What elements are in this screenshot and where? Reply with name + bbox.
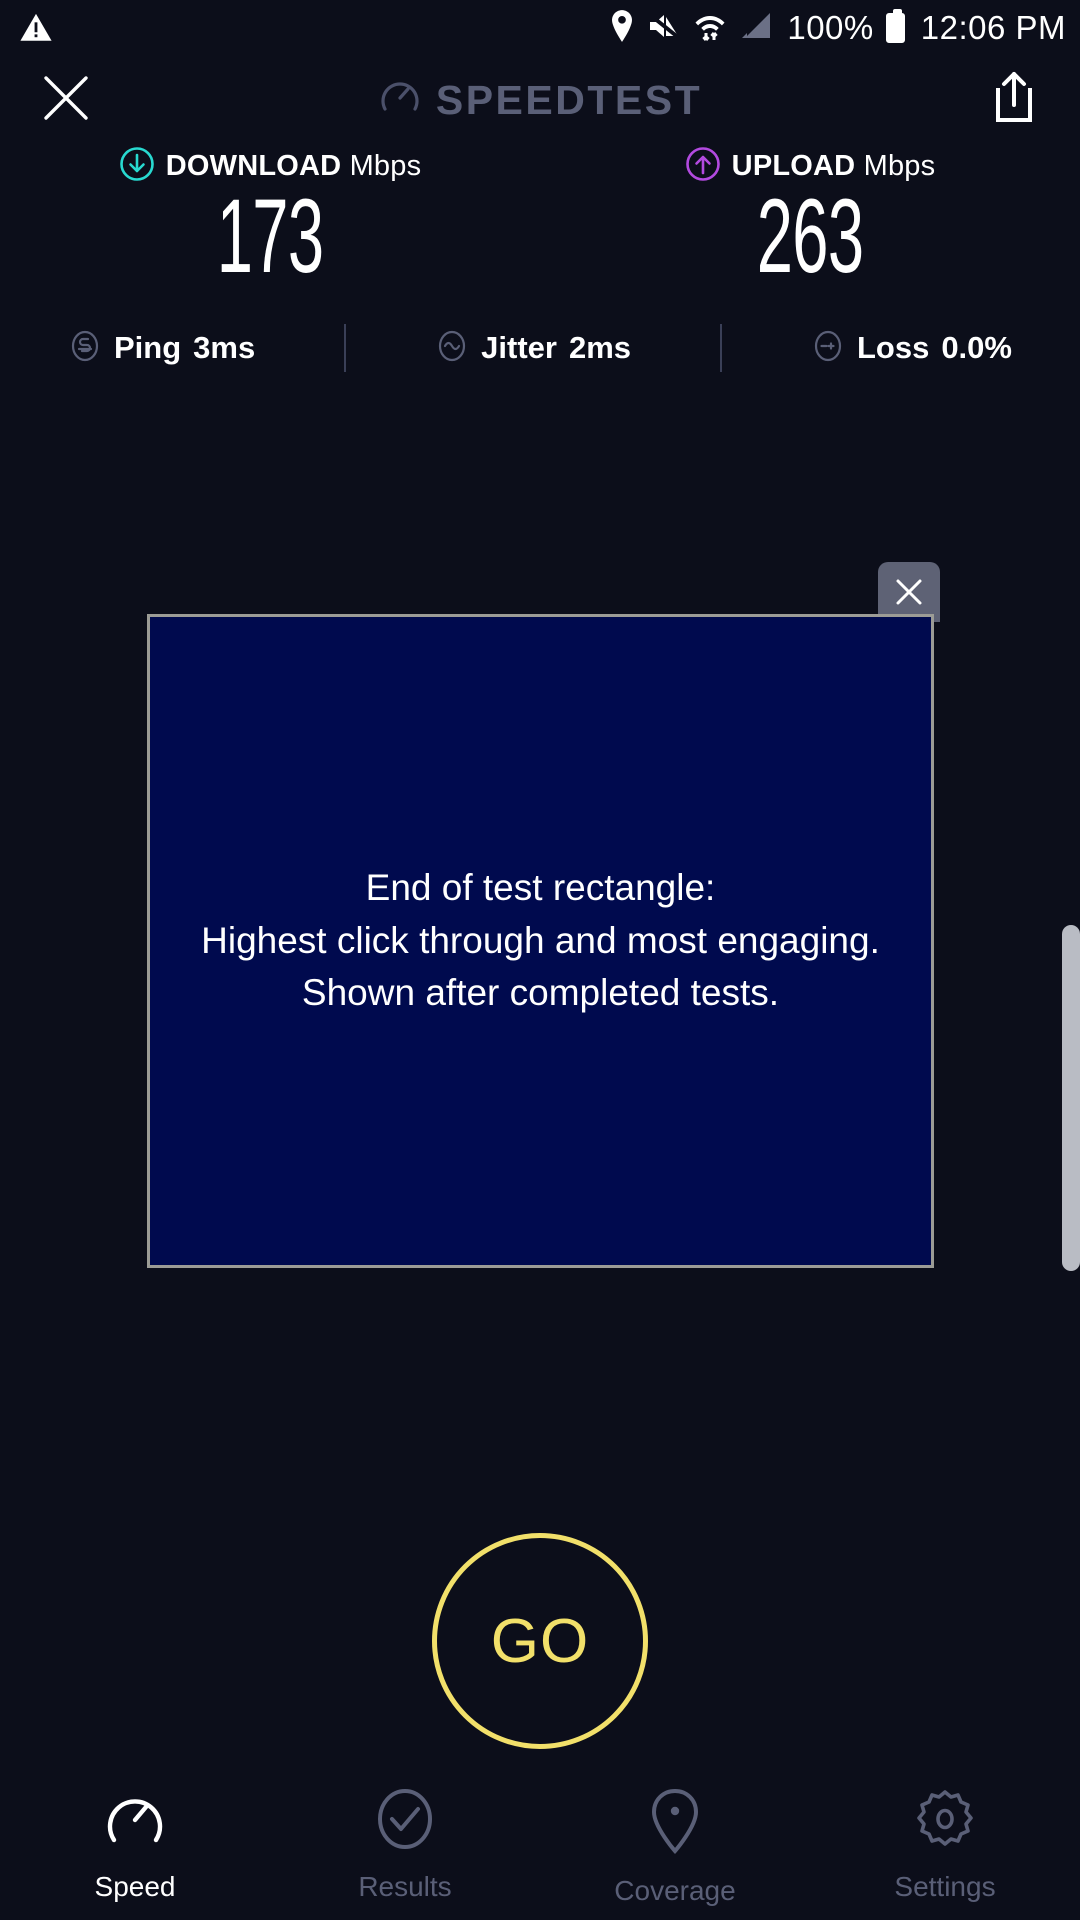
ping-name: Ping <box>114 330 181 366</box>
ping-value: 3ms <box>193 330 255 366</box>
location-pin-icon <box>642 1786 708 1861</box>
nav-label-speed: Speed <box>95 1871 176 1903</box>
upload-arrow-icon <box>685 146 721 187</box>
nav-item-settings[interactable]: Settings <box>810 1770 1080 1920</box>
bottom-navigation: Speed Results Coverage <box>0 1770 1080 1920</box>
jitter-name: Jitter <box>481 330 557 366</box>
ad-text-block: End of test rectangle: Highest click thr… <box>147 862 934 1020</box>
ad-line-2: Highest click through and most engaging. <box>163 915 918 968</box>
ping-stat: Ping 3ms <box>68 329 255 368</box>
results-panel: DOWNLOAD Mbps 173 UPLOAD Mbps 263 <box>0 145 1080 378</box>
jitter-stat: Jitter 2ms <box>435 329 631 368</box>
status-icons-group: 100% 12:06 PM <box>609 0 1066 56</box>
stat-divider <box>720 324 722 372</box>
close-x-icon[interactable] <box>36 68 96 128</box>
loss-stat: Loss 0.0% <box>811 329 1012 368</box>
app-root: 100% 12:06 PM SPEEDTEST <box>0 0 1080 1920</box>
loss-icon <box>811 329 845 368</box>
warning-triangle-icon <box>14 8 58 48</box>
loss-value: 0.0% <box>941 330 1012 366</box>
loss-name: Loss <box>857 330 929 366</box>
nav-item-results[interactable]: Results <box>270 1770 540 1920</box>
ad-close-x-icon[interactable] <box>878 562 940 622</box>
app-header: SPEEDTEST <box>0 58 1080 142</box>
ad-line-1: End of test rectangle: <box>163 862 918 915</box>
nav-item-speed[interactable]: Speed <box>0 1770 270 1920</box>
share-upload-icon[interactable] <box>984 66 1044 130</box>
go-button[interactable]: GO <box>432 1533 648 1749</box>
battery-percent-label: 100% <box>787 9 873 47</box>
stats-row: Ping 3ms Jitter 2ms <box>0 318 1080 378</box>
brand-title: SPEEDTEST <box>436 77 702 124</box>
battery-full-icon <box>886 13 905 43</box>
go-button-label: GO <box>491 1606 589 1677</box>
nav-label-results: Results <box>358 1871 451 1903</box>
speed-values-row: DOWNLOAD Mbps 173 UPLOAD Mbps 263 <box>0 145 1080 290</box>
wifi-transfer-icon <box>693 8 727 49</box>
jitter-icon <box>435 329 469 368</box>
speedometer-icon <box>102 1786 168 1857</box>
nav-item-coverage[interactable]: Coverage <box>540 1770 810 1920</box>
ad-line-3: Shown after completed tests. <box>163 967 918 1020</box>
vertical-scrollbar[interactable] <box>1062 925 1080 1271</box>
stat-divider <box>344 324 346 372</box>
ping-icon <box>68 329 102 368</box>
location-pin-icon <box>609 9 635 48</box>
gear-icon <box>912 1786 978 1857</box>
download-arrow-icon <box>119 146 155 187</box>
cellular-signal-icon <box>739 11 773 46</box>
nav-label-coverage: Coverage <box>614 1875 735 1907</box>
jitter-value: 2ms <box>569 330 631 366</box>
status-bar: 100% 12:06 PM <box>0 0 1080 56</box>
download-value: 173 <box>217 183 324 290</box>
upload-metric: UPLOAD Mbps 263 <box>540 145 1080 290</box>
advertisement-banner[interactable]: End of test rectangle: Highest click thr… <box>147 614 934 1268</box>
upload-value: 263 <box>757 183 864 290</box>
brand-group: SPEEDTEST <box>0 58 1080 142</box>
volume-mute-icon <box>647 11 681 46</box>
nav-label-settings: Settings <box>894 1871 995 1903</box>
speedometer-icon <box>378 76 422 125</box>
clock-label: 12:06 PM <box>921 9 1066 47</box>
check-circle-icon <box>372 1786 438 1857</box>
download-metric: DOWNLOAD Mbps 173 <box>0 145 540 290</box>
